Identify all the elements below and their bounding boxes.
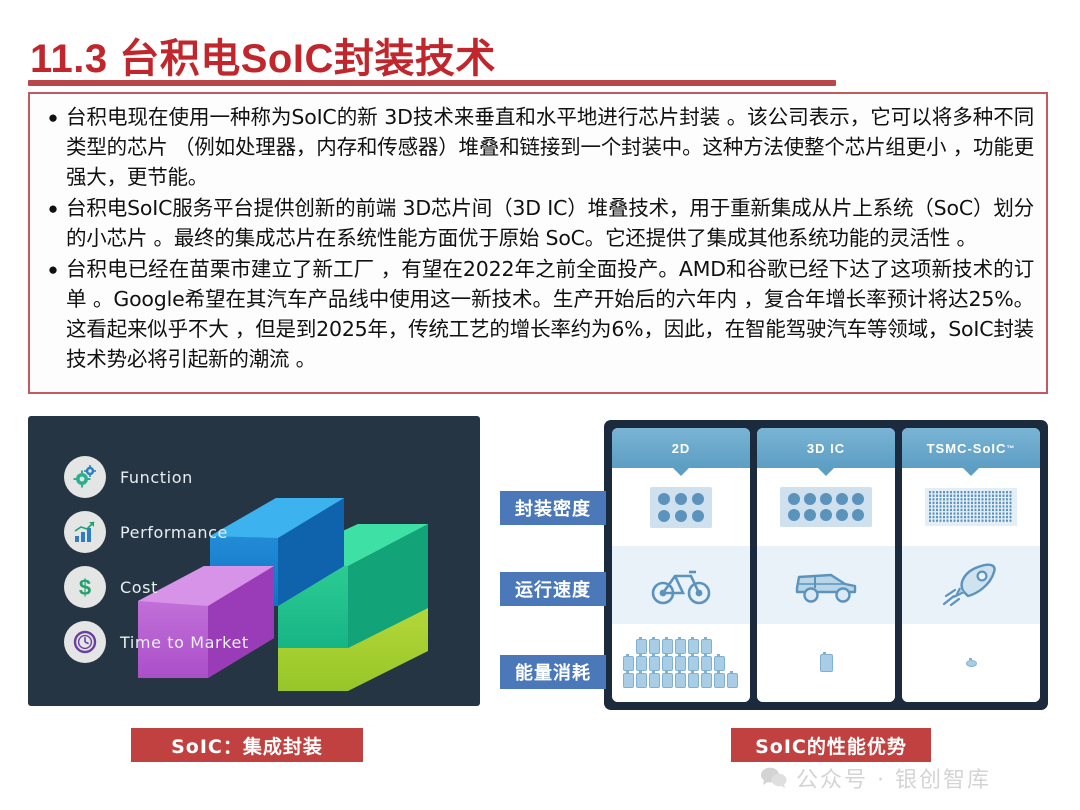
left-legend-item-function: Function	[64, 456, 193, 498]
column-header-label: TSMC-SoIC	[927, 441, 1007, 456]
dot-grid-icon	[780, 487, 872, 527]
bullet-marker-icon: ●	[40, 102, 66, 133]
column-header-label: 2D	[672, 441, 691, 456]
bicycle-icon	[649, 564, 713, 606]
energy-cell-3dic	[757, 624, 895, 702]
bullet-text: 台积电SoIC服务平台提供创新的前端 3D芯片间（3D IC）堆叠技术，用于重新…	[66, 193, 1034, 253]
wechat-icon	[760, 766, 788, 790]
svg-text:$: $	[79, 575, 91, 600]
left-legend-label: Time to Market	[120, 633, 249, 652]
dot-grid-icon	[925, 488, 1017, 526]
bullet-marker-icon: ●	[40, 254, 66, 285]
page-title: 11.3 台积电SoIC封装技术	[30, 26, 496, 84]
right-figure-caption: SoIC的性能优势	[731, 728, 931, 762]
row-label-energy: 能量消耗	[500, 655, 606, 689]
gears-icon	[64, 456, 106, 498]
left-legend-label: Function	[120, 468, 193, 487]
left-legend-label: Performance	[120, 523, 228, 542]
watermark: 公众号 · 银创智库	[760, 762, 991, 794]
bullet-text: 台积电现在使用一种称为SoIC的新 3D技术来垂直和水平地进行芯片封装 。该公司…	[66, 102, 1034, 192]
left-legend-label: Cost	[120, 578, 158, 597]
column-header: 2D	[612, 428, 750, 468]
body-textbox: ● 台积电现在使用一种称为SoIC的新 3D技术来垂直和水平地进行芯片封装 。该…	[28, 92, 1048, 394]
comparison-column-tsmc-soic: TSMC-SoIC™	[902, 428, 1040, 702]
left-legend-item-cost: $ Cost	[64, 566, 158, 608]
dot-grid-icon	[650, 487, 712, 528]
speed-cell-3dic	[757, 546, 895, 624]
density-cell-2d	[612, 468, 750, 546]
bullet-marker-icon: ●	[40, 193, 66, 224]
row-label-density: 封装密度	[500, 491, 606, 525]
density-cell-soic	[902, 468, 1040, 546]
clock-icon	[64, 621, 106, 663]
comparison-column-3dic: 3D IC	[757, 428, 895, 702]
left-legend-item-time-to-market: Time to Market	[64, 621, 249, 663]
density-cell-3dic	[757, 468, 895, 546]
watermark-text: 公众号 · 银创智库	[796, 762, 991, 794]
column-header: 3D IC	[757, 428, 895, 468]
battery-single-icon	[820, 654, 833, 672]
bullet-item: ● 台积电SoIC服务平台提供创新的前端 3D芯片间（3D IC）堆叠技术，用于…	[40, 193, 1034, 253]
rocket-icon	[938, 562, 1004, 608]
car-icon	[791, 564, 861, 606]
bullet-item: ● 台积电现在使用一种称为SoIC的新 3D技术来垂直和水平地进行芯片封装 。该…	[40, 102, 1034, 192]
comparison-column-2d: 2D	[612, 428, 750, 702]
soic-integration-figure: Function Performance $ Cost	[28, 416, 480, 706]
column-header: TSMC-SoIC™	[902, 428, 1040, 468]
column-header-label: 3D IC	[807, 441, 845, 456]
row-label-speed: 运行速度	[500, 572, 606, 606]
soic-comparison-figure: 2D	[604, 420, 1048, 710]
bullet-item: ● 台积电已经在苗栗市建立了新工厂 ，有望在2022年之前全面投产。AMD和谷歌…	[40, 254, 1034, 374]
battery-tiny-icon	[966, 660, 977, 667]
energy-cell-2d	[612, 624, 750, 702]
slide-root: 11.3 台积电SoIC封装技术 ● 台积电现在使用一种称为SoIC的新 3D技…	[0, 0, 1080, 810]
bullet-text: 台积电已经在苗栗市建立了新工厂 ，有望在2022年之前全面投产。AMD和谷歌已经…	[66, 254, 1034, 374]
trademark-symbol: ™	[1006, 444, 1015, 453]
energy-cell-soic	[902, 624, 1040, 702]
bar-chart-icon	[64, 511, 106, 553]
left-legend-item-performance: Performance	[64, 511, 228, 553]
title-underline	[28, 80, 836, 86]
left-figure-caption: SoIC：集成封装	[131, 728, 363, 762]
dollar-icon: $	[64, 566, 106, 608]
speed-cell-2d	[612, 546, 750, 624]
speed-cell-soic	[902, 546, 1040, 624]
battery-many-icon	[623, 639, 740, 688]
